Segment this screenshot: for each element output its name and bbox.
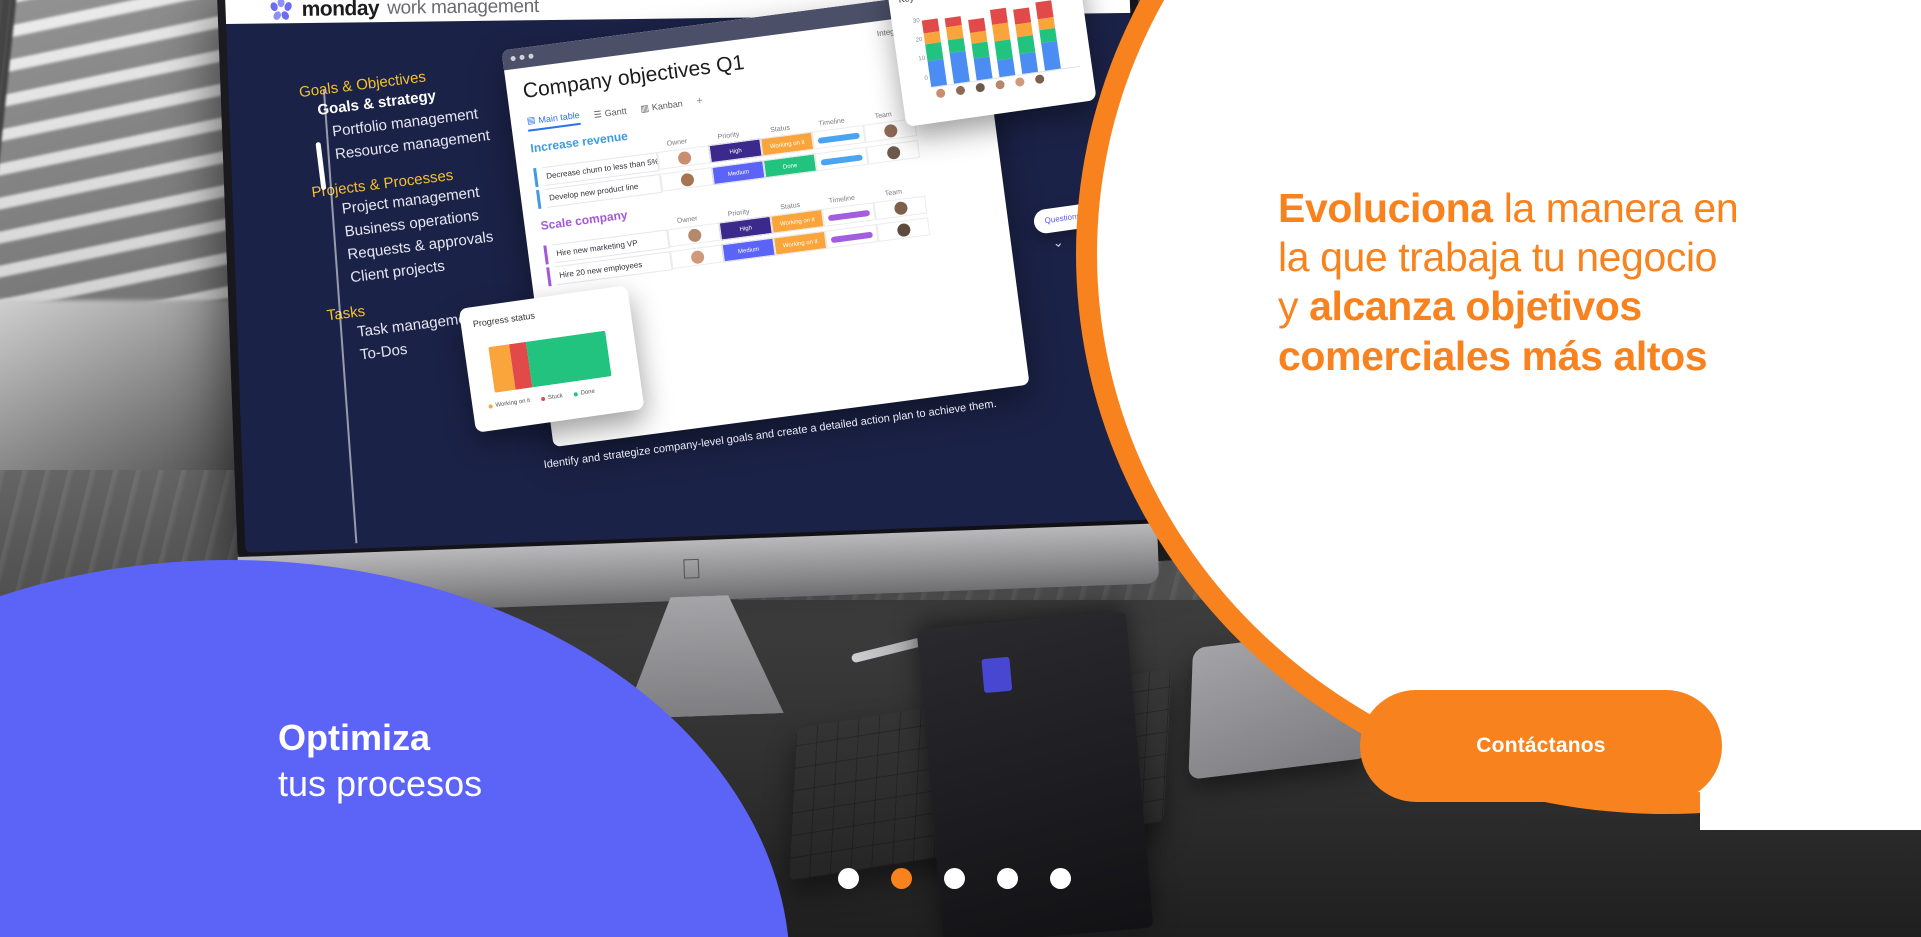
cell-status[interactable]: Working on it [773, 231, 827, 256]
carousel-dots [838, 868, 1071, 889]
monday-app-screen: monday work management Goals & Objective… [225, 0, 1149, 553]
avatar [690, 250, 705, 265]
legend-working-on-it: Working on it [488, 398, 530, 410]
window-dots-icon [510, 53, 533, 61]
avatar [893, 201, 908, 216]
cell-status[interactable]: Done [763, 154, 817, 179]
cell-team[interactable] [876, 217, 930, 242]
cell-owner[interactable] [670, 244, 724, 269]
key-results-card: Key results by owner 30 20 10 0 [886, 0, 1097, 127]
carousel-dot-1[interactable] [838, 868, 859, 889]
apple-logo-icon:  [678, 554, 705, 585]
headline-line3-prefix: y [1278, 283, 1309, 329]
ytick-30: 30 [913, 18, 920, 25]
headline-line-4: comerciales más altos [1278, 332, 1878, 381]
brand-tagline: work management [387, 0, 539, 20]
key-results-chart: 30 20 10 0 [921, 0, 1081, 99]
cell-owner[interactable] [657, 145, 711, 170]
avatar [677, 151, 692, 166]
legend-done: Done [573, 389, 595, 398]
carousel-dot-4[interactable] [997, 868, 1018, 889]
headline-bold-evoluciona: Evoluciona [1278, 185, 1493, 231]
optimiza-subtitle: tus procesos [278, 761, 698, 807]
imac-computer: monday work management Goals & Objective… [217, 0, 1180, 623]
avatar [896, 223, 911, 238]
table-icon: ▤ [526, 115, 536, 127]
orange-panel-mask [1700, 0, 1921, 830]
cell-team[interactable] [866, 140, 920, 165]
tab-main-table[interactable]: ▤ Main table [526, 109, 581, 132]
cell-priority[interactable]: High [709, 139, 763, 164]
legend-stuck: Stuck [541, 393, 564, 402]
tab-kanban[interactable]: ▥ Kanban [640, 98, 684, 114]
cell-timeline[interactable] [825, 224, 879, 249]
cell-timeline[interactable] [822, 202, 876, 227]
cell-owner[interactable] [667, 223, 721, 248]
carousel-dot-2[interactable] [891, 868, 912, 889]
headline-bold-comerciales: comerciales más altos [1278, 333, 1707, 379]
avatar [680, 173, 695, 188]
ytick-20: 20 [915, 37, 922, 44]
tab-kanban-label: Kanban [651, 98, 683, 112]
ytick-10: 10 [918, 56, 925, 63]
cell-status[interactable]: Working on it [770, 209, 824, 234]
avatar [687, 228, 702, 243]
avatar [886, 145, 901, 160]
kanban-icon: ▥ [640, 102, 650, 114]
cell-priority[interactable]: High [719, 216, 773, 241]
headline-line-1: Evoluciona la manera en [1278, 184, 1878, 233]
monday-dots-logo-icon [270, 0, 294, 22]
headline-line-3: y alcanza objetivos [1278, 282, 1878, 331]
progress-legend: Working on it Stuck Done [488, 389, 595, 410]
headline-line-2: la que trabaja tu negocio [1278, 233, 1878, 282]
brand-name: monday [301, 0, 379, 22]
carousel-dot-5[interactable] [1050, 868, 1071, 889]
headline-line1-rest: la manera en [1493, 185, 1739, 231]
optimiza-badge: Optimiza tus procesos [278, 715, 698, 807]
tab-main-table-label: Main table [538, 109, 580, 124]
cell-team[interactable] [873, 195, 927, 220]
tab-gantt[interactable]: ☰ Gantt [593, 105, 627, 120]
cell-status[interactable]: Working on it [760, 132, 814, 157]
optimiza-title: Optimiza [278, 715, 698, 761]
contactanos-button[interactable]: Contáctanos [1360, 690, 1722, 802]
cell-timeline[interactable] [815, 147, 869, 172]
laptop-screen-badge [981, 657, 1012, 693]
carousel-dot-3[interactable] [944, 868, 965, 889]
cell-priority[interactable]: Medium [711, 160, 765, 185]
cell-owner[interactable] [660, 167, 714, 192]
monday-logo: monday work management [270, 0, 540, 22]
cell-priority[interactable]: Medium [722, 238, 776, 263]
gantt-icon: ☰ [593, 109, 602, 121]
hero-headline: Evoluciona la manera en la que trabaja t… [1278, 184, 1878, 381]
add-view-button[interactable]: + [696, 95, 704, 108]
chevron-down-icon[interactable]: ⌄ [1052, 234, 1065, 251]
ytick-0: 0 [924, 75, 928, 81]
headline-bold-alcanza: alcanza objetivos [1309, 283, 1642, 329]
hero-slide: monday work management Goals & Objective… [0, 0, 1921, 937]
cell-timeline[interactable] [812, 125, 866, 150]
progress-bar-chart [488, 331, 611, 393]
avatar [883, 124, 898, 139]
progress-status-card: Progress status Working on it Stuck Done [459, 285, 645, 433]
tab-gantt-label: Gantt [604, 106, 627, 119]
